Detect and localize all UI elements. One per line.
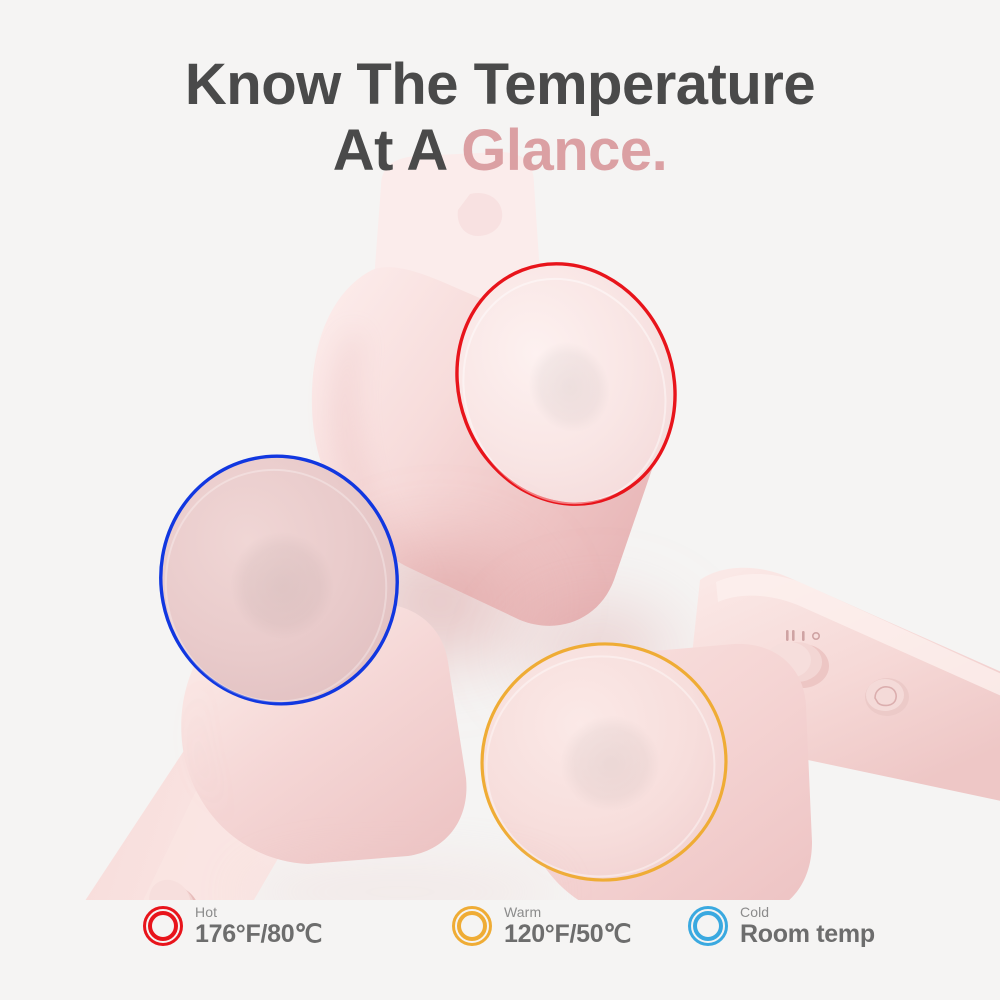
legend-text-hot: Hot 176°F/80℃	[195, 904, 322, 949]
product-photo	[0, 150, 1000, 900]
legend-value-hot: 176°F/80℃	[195, 921, 322, 949]
legend-text-warm: Warm 120°F/50℃	[504, 904, 631, 949]
double-ring-icon-hot	[143, 906, 183, 946]
double-ring-icon-warm	[452, 906, 492, 946]
legend-item-hot: Hot 176°F/80℃	[143, 898, 322, 954]
legend-label-cold: Cold	[740, 904, 875, 920]
legend-text-cold: Cold Room temp	[740, 904, 875, 949]
marketing-banner: Know The Temperature At A Glance.	[0, 0, 1000, 1000]
headline-accent-word: Glance.	[461, 118, 667, 183]
legend-item-cold: Cold Room temp	[688, 898, 875, 954]
page-title: Know The Temperature At A Glance.	[0, 52, 1000, 183]
headline-line-2-plain: At A	[333, 118, 462, 183]
temperature-legend: Hot 176°F/80℃ Warm 120°F/50℃ Cold Room t…	[0, 898, 1000, 956]
legend-item-warm: Warm 120°F/50℃	[452, 898, 631, 954]
legend-value-cold: Room temp	[740, 921, 875, 949]
legend-label-warm: Warm	[504, 904, 631, 920]
double-ring-icon-cold	[688, 906, 728, 946]
legend-label-hot: Hot	[195, 904, 322, 920]
headline-line-2: At A Glance.	[0, 118, 1000, 184]
legend-value-warm: 120°F/50℃	[504, 921, 631, 949]
headline-line-1: Know The Temperature	[0, 52, 1000, 118]
